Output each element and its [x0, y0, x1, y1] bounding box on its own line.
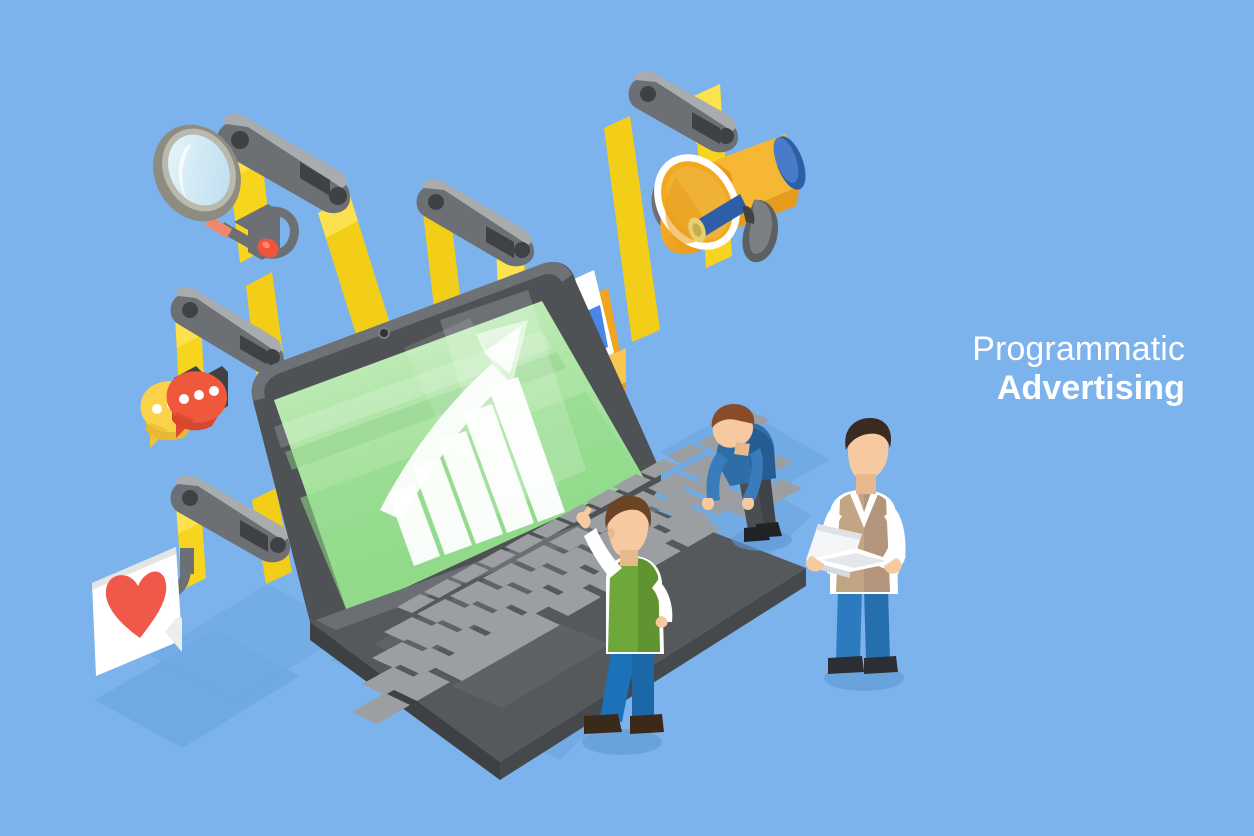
- pivot-hole-7: [428, 194, 444, 210]
- pointing-shoe-front: [630, 714, 664, 734]
- headline: Programmatic Advertising: [955, 332, 1185, 405]
- pivot-hole-2: [329, 187, 347, 205]
- bubble-dot-r2: [194, 390, 204, 400]
- leaning-shoe-front: [744, 526, 770, 542]
- bubble-dot-y1: [152, 404, 162, 414]
- pivot-hole-1: [231, 131, 249, 149]
- pivot-hole-8: [514, 242, 530, 258]
- holder-neck: [856, 474, 876, 494]
- pointing-neck: [620, 550, 638, 566]
- bubble-dot-r3: [209, 386, 219, 396]
- pointing-shoe-back: [584, 714, 622, 734]
- programmatic-advertising-illustration: AD: [0, 0, 1254, 836]
- pivot-hole-4: [264, 349, 280, 365]
- illustration-canvas: AD: [0, 0, 1254, 836]
- holder-leg-left: [836, 588, 862, 660]
- pivot-hole-9: [640, 86, 656, 102]
- holder-shoe-right: [864, 656, 898, 674]
- pivot-hole-10: [718, 128, 734, 144]
- leaning-neck: [734, 442, 750, 456]
- pointing-leg-front: [632, 648, 654, 720]
- pivot-hole-3: [182, 302, 198, 318]
- holder-leg-right: [864, 588, 890, 660]
- like-hook-stem: [180, 548, 194, 574]
- headline-line-2: Advertising: [955, 371, 1185, 406]
- pivot-hole-6: [270, 537, 286, 553]
- headline-line-1: Programmatic: [955, 332, 1185, 367]
- bubble-dot-r1: [179, 394, 189, 404]
- holder-shoe-left: [828, 656, 864, 674]
- pivot-hole-5: [182, 490, 198, 506]
